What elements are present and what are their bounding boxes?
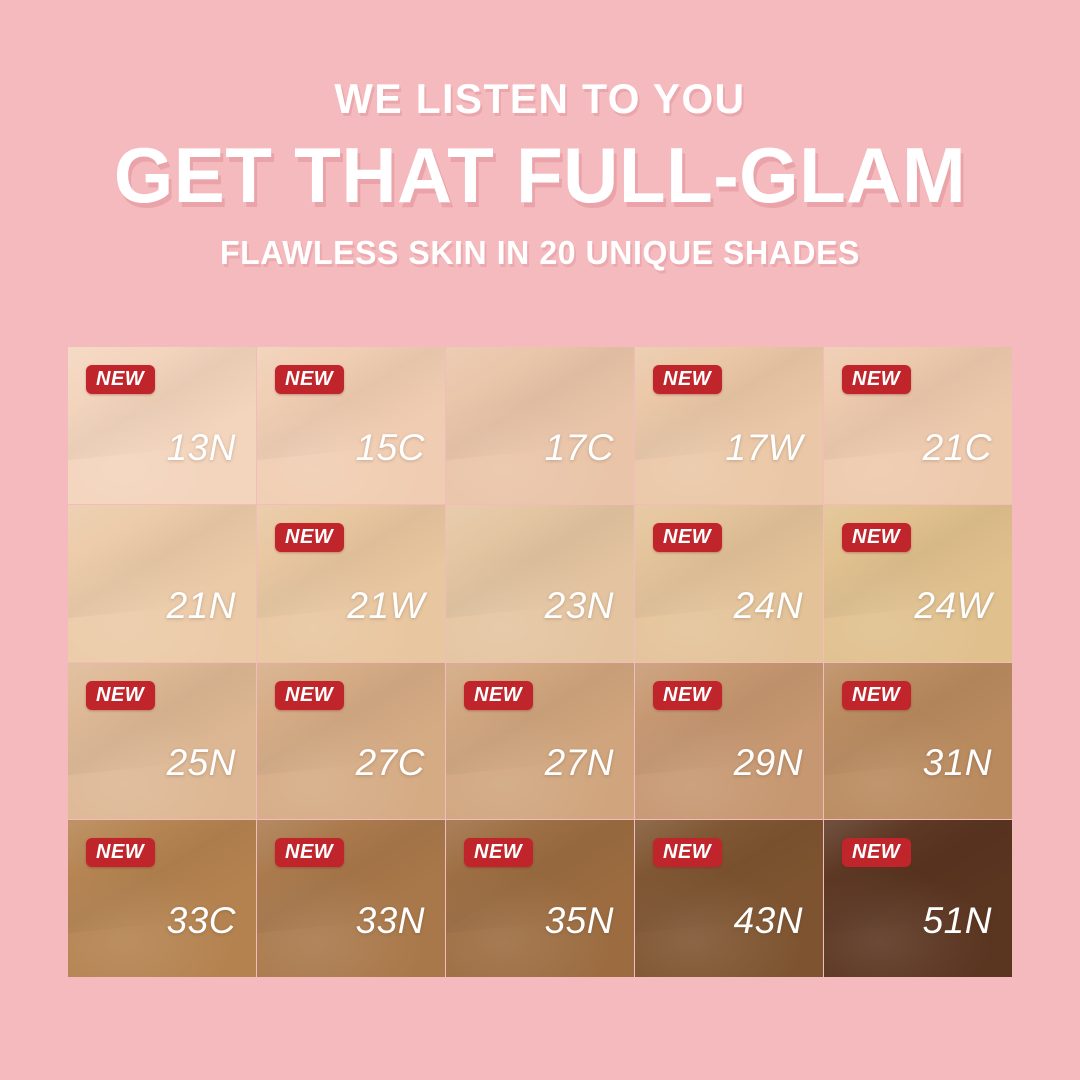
shade-swatch[interactable]: NEW24W: [824, 505, 1012, 662]
shade-label: 24W: [914, 587, 992, 624]
shade-swatch[interactable]: NEW33N: [257, 820, 445, 977]
headline-subtitle: FLAWLESS SKIN IN 20 UNIQUE SHADES: [16, 236, 1064, 269]
shade-label: 17W: [725, 429, 803, 466]
shade-label: 51N: [923, 902, 992, 939]
shade-swatch[interactable]: 23N: [446, 505, 634, 662]
shade-swatch[interactable]: NEW27C: [257, 663, 445, 820]
new-badge: NEW: [275, 365, 344, 394]
new-badge: NEW: [275, 523, 344, 552]
shade-swatch[interactable]: NEW29N: [635, 663, 823, 820]
shade-swatch[interactable]: NEW25N: [68, 663, 256, 820]
shade-swatch[interactable]: NEW27N: [446, 663, 634, 820]
shade-swatch-grid: NEW13NNEW15C17CNEW17WNEW21C21NNEW21W23NN…: [68, 347, 1012, 977]
shade-swatch[interactable]: NEW13N: [68, 347, 256, 504]
shade-swatch[interactable]: 17C: [446, 347, 634, 504]
shade-label: 27N: [545, 744, 614, 781]
shade-label: 17C: [545, 429, 614, 466]
shade-label: 21N: [167, 587, 236, 624]
shade-label: 23N: [545, 587, 614, 624]
shade-swatch[interactable]: NEW21C: [824, 347, 1012, 504]
headline-eyebrow: WE LISTEN TO YOU: [16, 78, 1064, 120]
new-badge: NEW: [653, 523, 722, 552]
shade-label: 24N: [734, 587, 803, 624]
new-badge: NEW: [653, 681, 722, 710]
shade-swatch[interactable]: 21N: [68, 505, 256, 662]
shade-swatch[interactable]: NEW31N: [824, 663, 1012, 820]
shade-label: 29N: [734, 744, 803, 781]
shade-label: 35N: [545, 902, 614, 939]
shade-label: 13N: [167, 429, 236, 466]
shade-swatch[interactable]: NEW24N: [635, 505, 823, 662]
shade-label: 43N: [734, 902, 803, 939]
new-badge: NEW: [842, 523, 911, 552]
shade-swatch[interactable]: NEW51N: [824, 820, 1012, 977]
shade-label: 21W: [347, 587, 425, 624]
new-badge: NEW: [464, 838, 533, 867]
new-badge: NEW: [275, 838, 344, 867]
headline-block: WE LISTEN TO YOU GET THAT FULL-GLAM FLAW…: [0, 78, 1080, 269]
shade-label: 27C: [356, 744, 425, 781]
new-badge: NEW: [653, 365, 722, 394]
shade-swatch[interactable]: NEW43N: [635, 820, 823, 977]
shade-label: 33C: [167, 902, 236, 939]
shade-label: 25N: [167, 744, 236, 781]
shade-label: 15C: [356, 429, 425, 466]
shade-swatch[interactable]: NEW15C: [257, 347, 445, 504]
new-badge: NEW: [842, 838, 911, 867]
new-badge: NEW: [842, 681, 911, 710]
shade-swatch[interactable]: NEW21W: [257, 505, 445, 662]
shade-label: 21C: [923, 429, 992, 466]
shade-swatch[interactable]: NEW35N: [446, 820, 634, 977]
shade-label: 33N: [356, 902, 425, 939]
headline-main: GET THAT FULL-GLAM: [11, 136, 1069, 214]
new-badge: NEW: [275, 681, 344, 710]
shade-swatch[interactable]: NEW17W: [635, 347, 823, 504]
new-badge: NEW: [86, 838, 155, 867]
new-badge: NEW: [842, 365, 911, 394]
new-badge: NEW: [86, 365, 155, 394]
new-badge: NEW: [464, 681, 533, 710]
shade-label: 31N: [923, 744, 992, 781]
new-badge: NEW: [86, 681, 155, 710]
new-badge: NEW: [653, 838, 722, 867]
shade-swatch[interactable]: NEW33C: [68, 820, 256, 977]
